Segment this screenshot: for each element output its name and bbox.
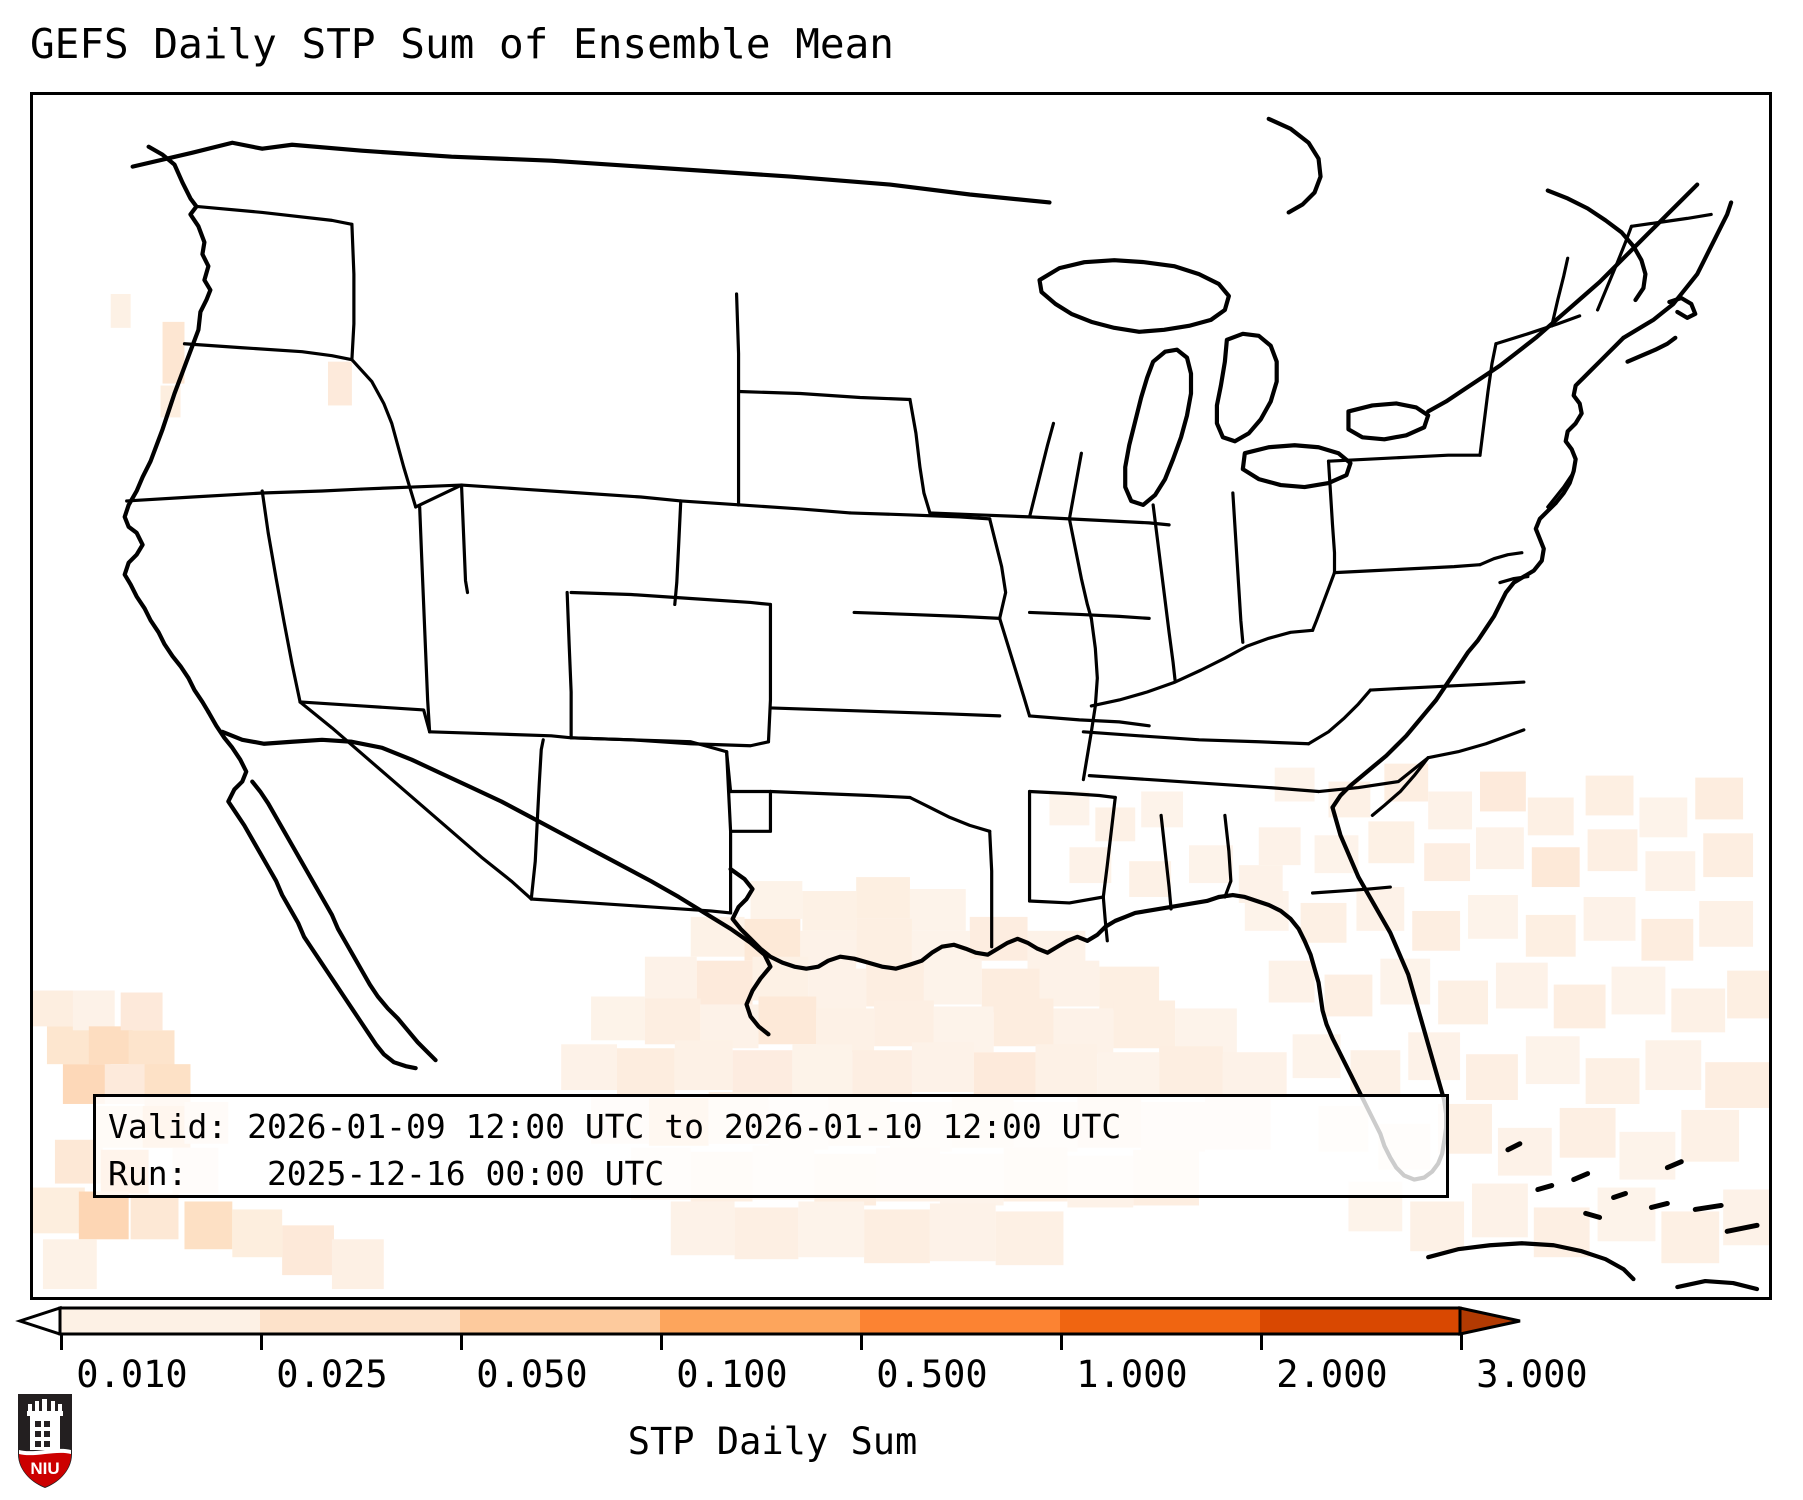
valid-time-text: Valid: 2026-01-09 12:00 UTC to 2026-01-1… — [108, 1103, 1436, 1150]
map-plot-area[interactable]: Valid: 2026-01-09 12:00 UTC to 2026-01-1… — [30, 92, 1772, 1300]
colorbar-tick — [1260, 1334, 1263, 1350]
colorbar-tick — [860, 1334, 863, 1350]
colorbar-tick-label: 1.000 — [1076, 1352, 1187, 1398]
colorbar[interactable] — [60, 1308, 1480, 1334]
colorbar-tick-label: 0.500 — [876, 1352, 987, 1398]
colorbar-tick-label: 0.100 — [676, 1352, 787, 1398]
colorbar-tick-labels: 0.010 0.025 0.050 0.100 0.500 1.000 2.00… — [0, 1352, 1803, 1400]
colorbar-tick — [660, 1334, 663, 1350]
colorbar-tick-label: 0.025 — [276, 1352, 387, 1398]
colorbar-over-arrow — [1460, 1308, 1520, 1334]
colorbar-axis-label: STP Daily Sum — [0, 1418, 1545, 1466]
colorbar-tick-label: 2.000 — [1276, 1352, 1387, 1398]
colorbar-tick — [260, 1334, 263, 1350]
colorbar-ticks — [60, 1334, 1480, 1352]
colorbar-tick-label: 0.050 — [476, 1352, 587, 1398]
colorbar-tick-label: 3.000 — [1476, 1352, 1587, 1398]
colorbar-tick — [1460, 1334, 1463, 1350]
info-box: Valid: 2026-01-09 12:00 UTC to 2026-01-1… — [93, 1094, 1449, 1198]
colorbar-under-arrow — [20, 1308, 60, 1334]
figure-canvas: GEFS Daily STP Sum of Ensemble Mean — [0, 0, 1803, 1500]
niu-logo-text: NIU — [30, 1459, 59, 1478]
colorbar-gradient — [18, 1305, 1522, 1337]
colorbar-tick — [1060, 1334, 1063, 1350]
colorbar-tick-label: 0.010 — [76, 1352, 187, 1398]
colorbar-tick — [60, 1334, 63, 1350]
colorbar-tick — [460, 1334, 463, 1350]
page-title: GEFS Daily STP Sum of Ensemble Mean — [30, 18, 894, 70]
niu-logo: NIU — [16, 1392, 74, 1490]
run-time-text: Run: 2025-12-16 00:00 UTC — [108, 1150, 1436, 1197]
state-borders — [127, 206, 1712, 946]
